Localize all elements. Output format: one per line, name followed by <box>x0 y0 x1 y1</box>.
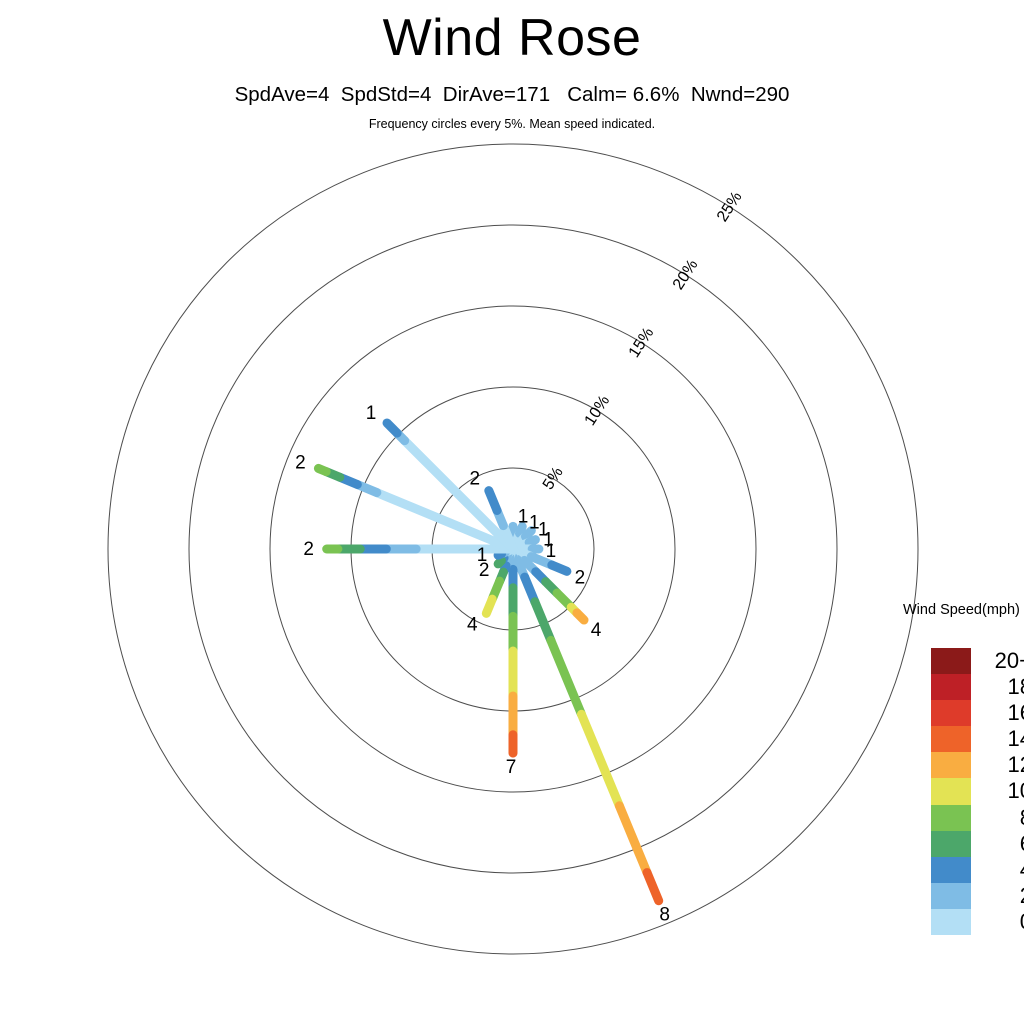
petal-segment <box>489 491 497 511</box>
legend-swatch <box>931 778 971 804</box>
legend-label: 2 <box>971 883 1024 909</box>
petal-segment <box>535 602 551 641</box>
legend-row: 6 <box>931 831 1024 857</box>
legend-label: 4 <box>971 857 1024 883</box>
legend-label: 10 <box>971 778 1024 804</box>
petal-segment <box>551 640 582 714</box>
petal-segment <box>520 527 523 534</box>
legend-label: 8 <box>971 805 1024 831</box>
legend-row: 20+ <box>931 648 1024 674</box>
petal-segment <box>577 613 584 620</box>
ring-label: 5% <box>540 464 567 493</box>
legend-row: 18 <box>931 674 1024 700</box>
legend-label: 20+ <box>971 648 1024 674</box>
petal-mean-speed-label: 2 <box>575 567 586 588</box>
petal-segment <box>486 599 492 613</box>
petal-segment <box>318 468 326 471</box>
petal-mean-speed-label: 8 <box>659 905 670 926</box>
petal-segment <box>552 565 567 571</box>
ring-labels: 5%10%15%20%25% <box>540 189 746 493</box>
legend-title: Wind Speed(mph) <box>903 602 1020 618</box>
petal-segment <box>581 714 619 805</box>
petal-segment <box>387 423 397 433</box>
wind-speed-legend: 20+181614121086420 <box>931 648 1024 935</box>
legend-row: 0 <box>931 909 1024 935</box>
petal-segment <box>498 561 501 564</box>
petal-mean-speed-label: 7 <box>506 757 517 778</box>
wind-rose-plot: 5%10%15%20%25% 1111124874212212 <box>0 0 1024 1024</box>
ring-label: 20% <box>670 257 702 293</box>
petal-mean-speed-label: 1 <box>546 541 557 562</box>
legend-row: 10 <box>931 778 1024 804</box>
petal-mean-speed-label: 1 <box>477 545 488 566</box>
legend-row: 16 <box>931 700 1024 726</box>
ring-label: 10% <box>582 393 614 429</box>
petal-mean-speed-label: 1 <box>366 403 377 424</box>
legend-swatch <box>931 726 971 752</box>
legend-swatch <box>931 752 971 778</box>
petal-mean-speed-label: 2 <box>295 452 306 473</box>
legend-swatch <box>931 883 971 909</box>
legend-swatch <box>931 648 971 674</box>
legend-label: 12 <box>971 752 1024 778</box>
legend-label: 6 <box>971 831 1024 857</box>
legend-label: 0 <box>971 909 1024 935</box>
wind-rose-page: Wind Rose SpdAve=4 SpdStd=4 DirAve=171 C… <box>0 0 1024 1024</box>
petal-mean-speed-label: 4 <box>467 614 478 635</box>
legend-swatch <box>931 909 971 935</box>
petal-segment <box>498 554 502 555</box>
ring-label: 25% <box>714 189 746 225</box>
petal-mean-speed-label: 2 <box>470 469 481 490</box>
legend-row: 8 <box>931 805 1024 831</box>
petal-mean-speed-label: 4 <box>591 620 602 641</box>
legend-row: 12 <box>931 752 1024 778</box>
legend-row: 2 <box>931 883 1024 909</box>
legend-swatch <box>931 700 971 726</box>
legend-label: 16 <box>971 700 1024 726</box>
wind-petals <box>318 423 658 901</box>
petal-mean-speed-label: 2 <box>303 539 314 560</box>
petal-segment <box>619 806 647 873</box>
legend-swatch <box>931 857 971 883</box>
legend-label: 14 <box>971 726 1024 752</box>
petal-segment <box>647 873 659 901</box>
legend-row: 4 <box>931 857 1024 883</box>
legend-row: 14 <box>931 726 1024 752</box>
legend-swatch <box>931 805 971 831</box>
legend-swatch <box>931 831 971 857</box>
petal-mean-speed-label: 1 <box>518 506 529 527</box>
petal-segment <box>529 540 535 543</box>
legend-label: 18 <box>971 674 1024 700</box>
legend-swatch <box>931 674 971 700</box>
ring-label: 15% <box>626 325 658 361</box>
petal-segment <box>405 441 513 549</box>
